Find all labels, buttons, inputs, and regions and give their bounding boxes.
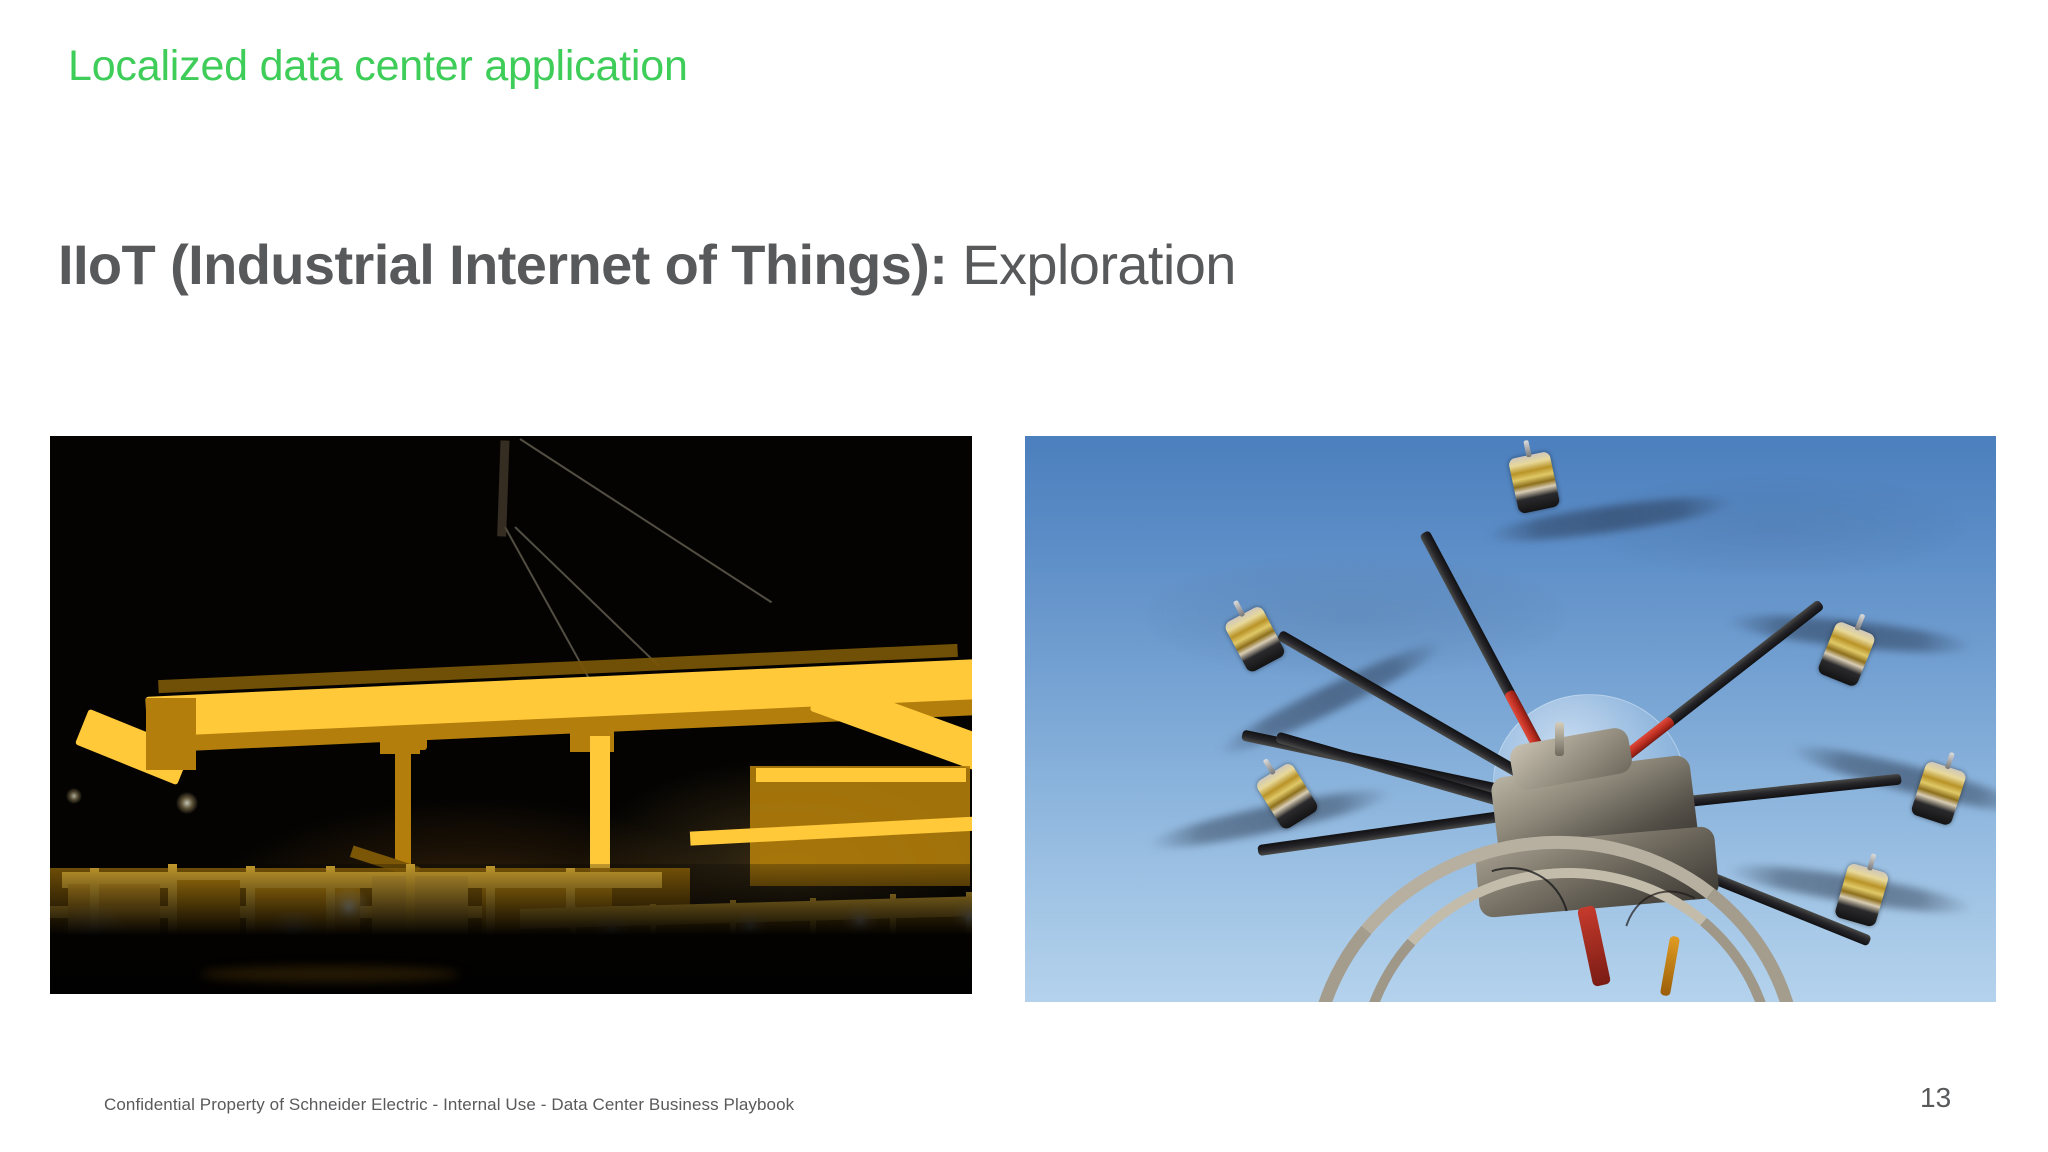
derrick-column	[590, 736, 610, 876]
drone-motor	[1834, 862, 1890, 927]
drone-motor	[1508, 451, 1561, 515]
drone-artwork	[1025, 436, 1996, 1002]
slide-canvas: Localized data center application IIoT (…	[0, 0, 2048, 1152]
dark-water	[50, 864, 972, 994]
beacon-light	[66, 788, 82, 804]
beacon-light	[176, 792, 198, 814]
page-title: IIoT (Industrial Internet of Things): Ex…	[58, 236, 1236, 295]
crane-mast-head	[381, 730, 427, 750]
footer-confidentiality-notice: Confidential Property of Schneider Elect…	[104, 1095, 794, 1115]
oil-platform-artwork	[50, 436, 972, 994]
slide-page-number: 13	[1920, 1082, 1951, 1114]
far-platform-roof	[756, 768, 966, 782]
image-octocopter-drone	[1025, 436, 1996, 1002]
cloud-wisp	[1145, 556, 1565, 676]
image-offshore-oil-platform	[50, 436, 972, 994]
slide-kicker: Localized data center application	[68, 44, 688, 89]
page-title-regular: Exploration	[947, 233, 1236, 296]
page-title-bold: IIoT (Industrial Internet of Things):	[58, 233, 947, 296]
water-reflection	[200, 966, 460, 982]
crane-boom-joint	[146, 698, 196, 770]
gps-mast	[1555, 722, 1564, 756]
